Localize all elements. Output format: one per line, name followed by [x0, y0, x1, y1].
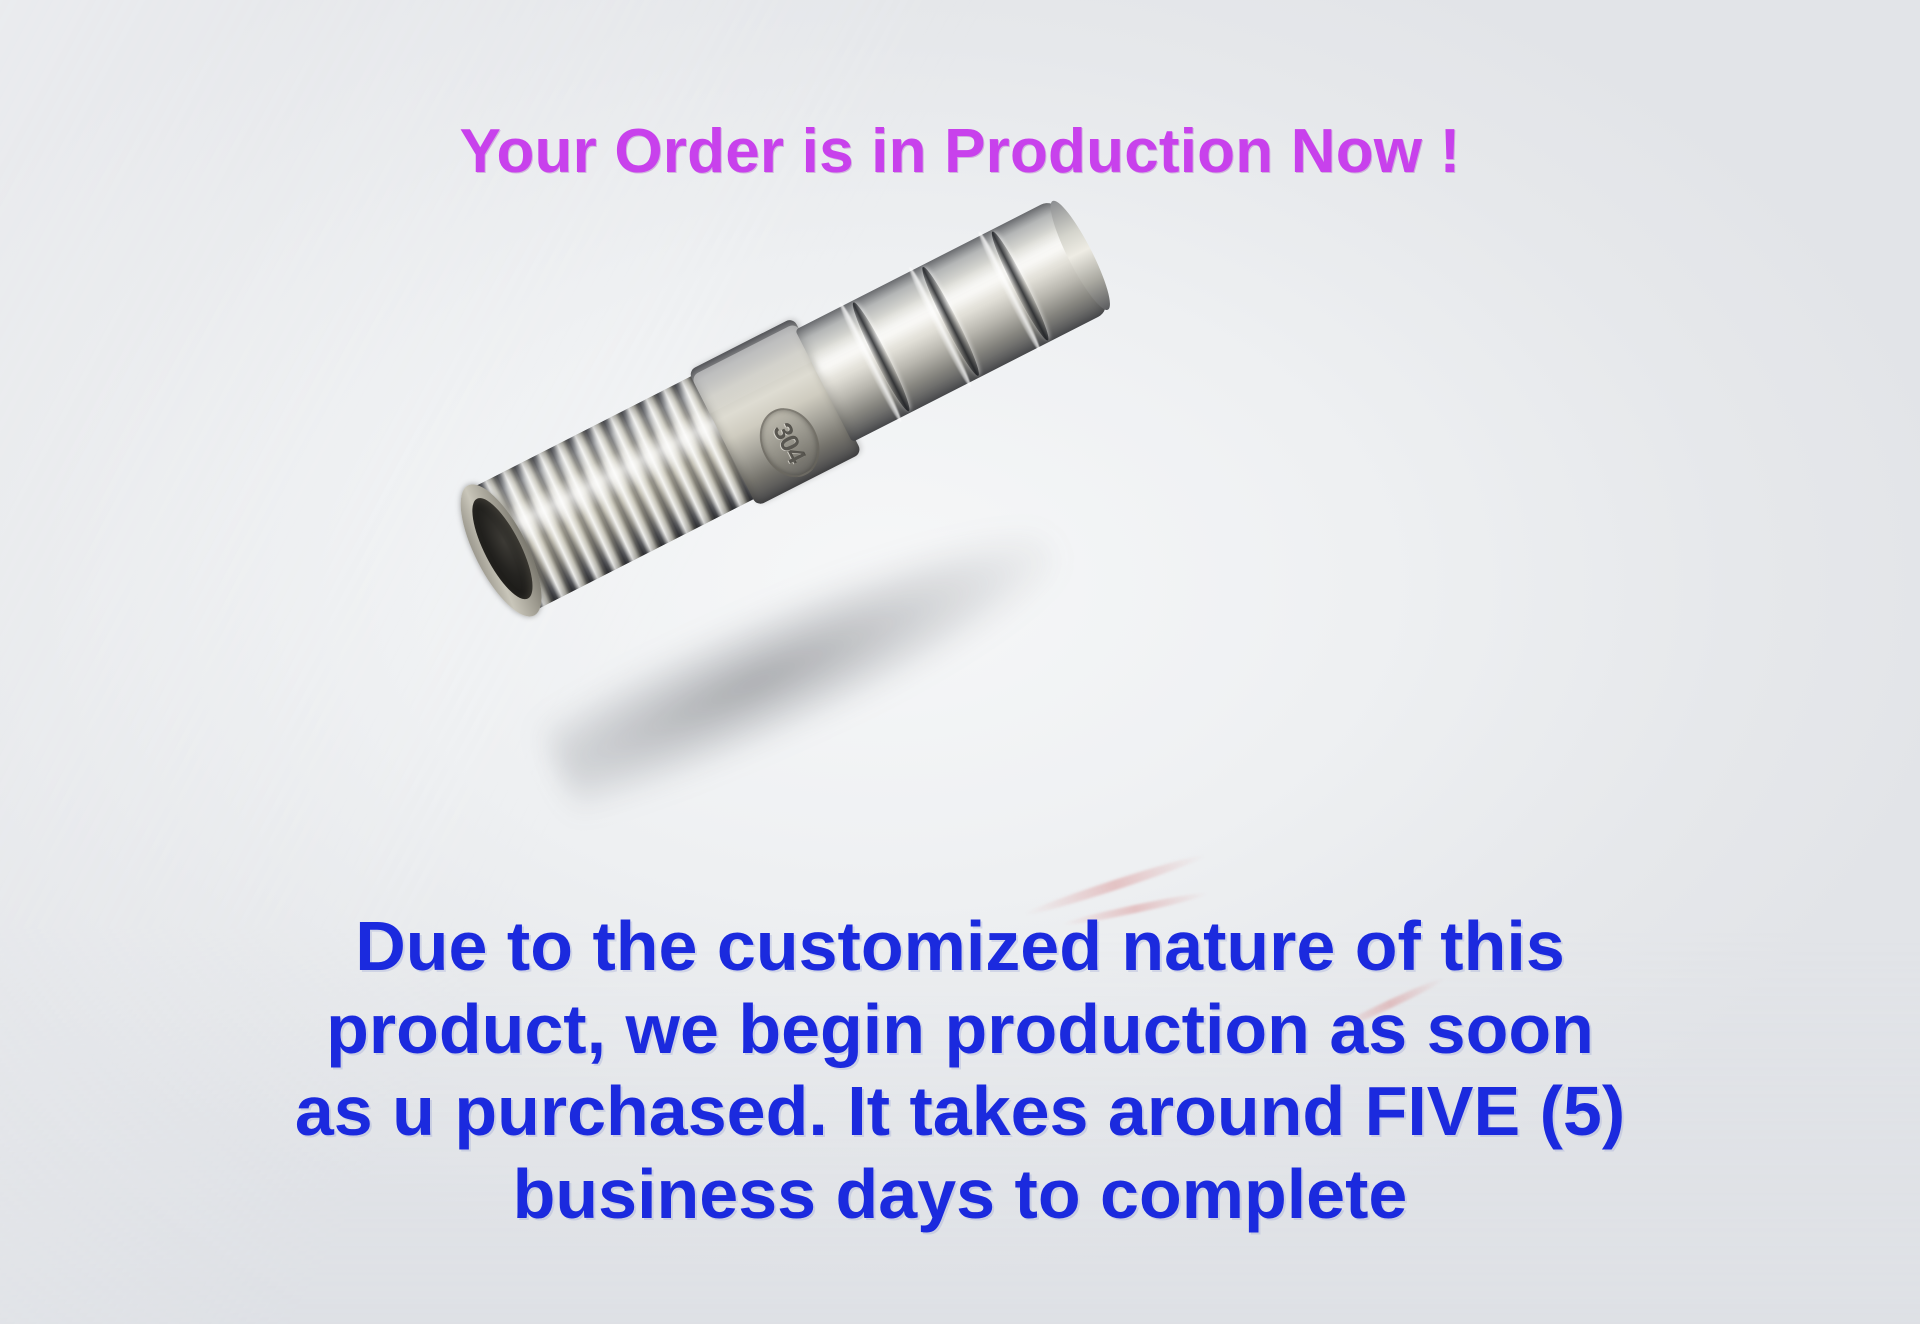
page-title: Your Order is in Production Now !	[0, 116, 1920, 187]
promo-banner: Your Order is in Production Now ! 304	[0, 0, 1920, 1324]
product-photo: 304	[455, 300, 1155, 740]
notice-line: as u purchased. It takes around FIVE (5)	[0, 1070, 1920, 1153]
notice-text: Due to the customized nature of this pro…	[0, 905, 1920, 1235]
notice-line: product, we begin production as soon	[0, 988, 1920, 1071]
notice-line: Due to the customized nature of this	[0, 905, 1920, 988]
notice-line: business days to complete	[0, 1153, 1920, 1236]
